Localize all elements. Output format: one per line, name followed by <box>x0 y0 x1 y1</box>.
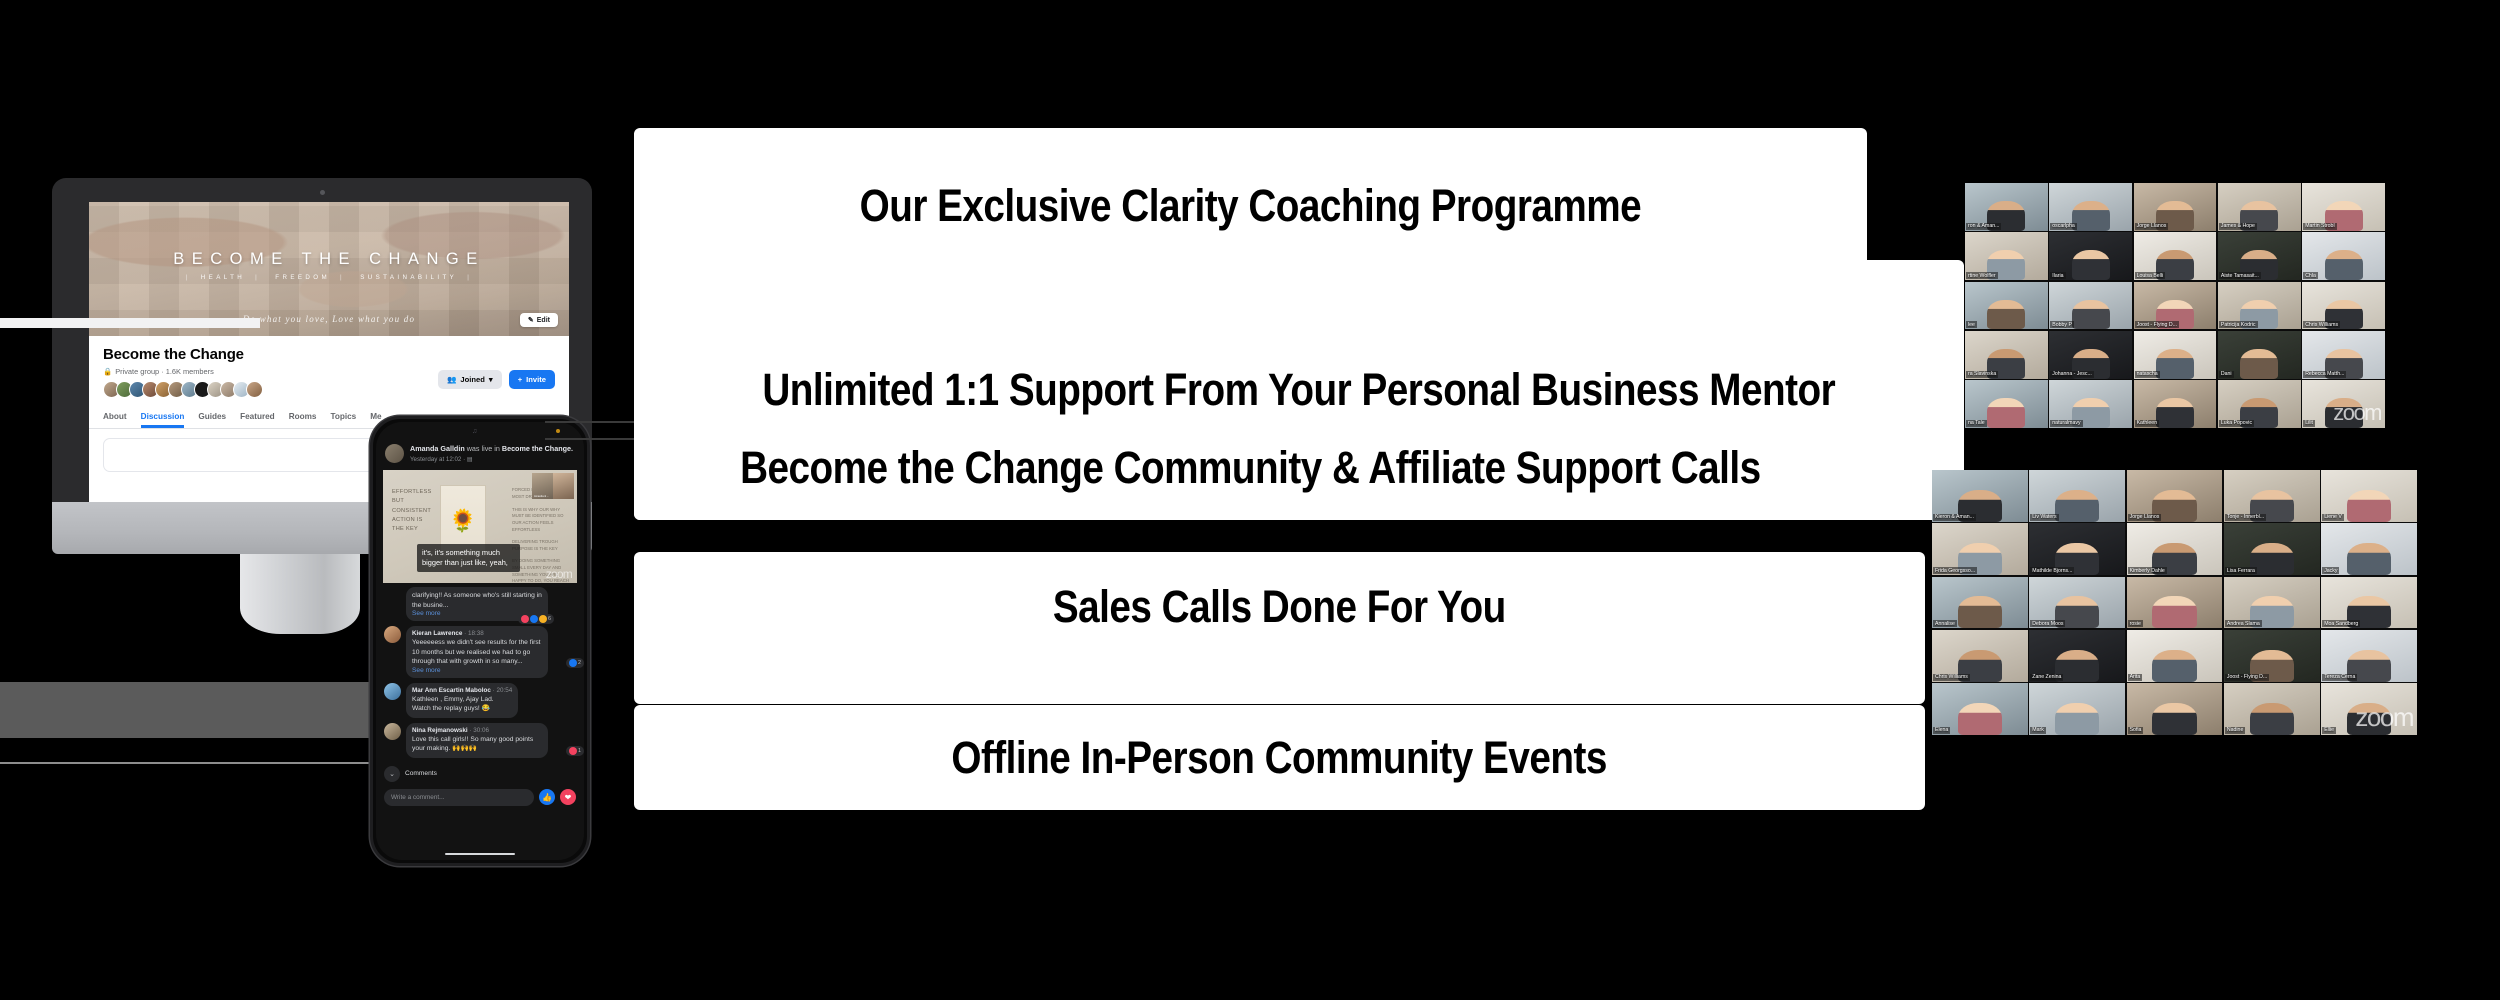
zoom-participant-tile[interactable]: Debora Moos <box>2029 577 2125 629</box>
avatar <box>384 723 401 740</box>
like-reaction-button[interactable]: 👍 <box>539 789 555 805</box>
lock-icon: 🔒 <box>103 367 112 376</box>
feature-panel-label: Offline In-Person Community Events <box>952 732 1607 784</box>
comment-bubble: Kieran Lawrence · 18:38 Yeeeeeess we did… <box>406 626 548 678</box>
participant-name-label: Luka Popovic <box>2219 420 2254 427</box>
participant-silhouette <box>2156 398 2194 428</box>
zoom-participant-tile[interactable]: Ilaria <box>2049 232 2132 280</box>
zoom-participant-tile[interactable]: Johanna - Jesc... <box>2049 331 2132 379</box>
zoom-participant-tile[interactable]: Andrea Slama <box>2224 577 2320 629</box>
joined-label: Joined <box>460 375 484 384</box>
comment-time: · 30:06 <box>469 727 489 734</box>
reaction-count: 2 <box>578 660 581 666</box>
zoom-participant-tile[interactable]: Lisa Ferrara <box>2224 523 2320 575</box>
chevron-down-icon: ⌄ <box>384 766 400 782</box>
group-name: Become the Change <box>103 346 555 363</box>
participant-name-label: Kimberly Dahle <box>2128 567 2167 574</box>
comment-bubble: clarifying!! As someone who's still star… <box>406 587 548 621</box>
comments-toggle-row[interactable]: ⌄ Comments <box>376 763 584 785</box>
zoom-participant-tile[interactable]: ra Slavinska <box>1965 331 2048 379</box>
zoom-participant-tile[interactable]: Nadine <box>2224 683 2320 735</box>
post-action: was live in <box>465 444 502 453</box>
feature-panel-offline-events[interactable]: Offline In-Person Community Events <box>634 705 1925 810</box>
tab-about[interactable]: About <box>103 412 127 428</box>
iphone-mockup: ♫ Amanda Galldin was live in Become the … <box>370 416 590 866</box>
live-caption: it's, it's something much bigger than ju… <box>417 544 520 572</box>
zoom-participant-tile[interactable]: James & Hope <box>2218 183 2301 231</box>
participant-silhouette <box>2072 300 2110 330</box>
zoom-participant-tile[interactable]: Elena <box>1932 683 2028 735</box>
reaction-pill[interactable]: 6 <box>518 614 554 624</box>
participant-name-label: Tereza Cerna <box>2322 674 2357 681</box>
participant-name-label: na Tale <box>1966 420 1987 427</box>
group-cover-photo: BECOME THE CHANGE |HEALTH| FREEDOM| SUST… <box>89 202 569 336</box>
participant-name-label: Lisa Ferrara <box>2225 567 2257 574</box>
participant-name-label: Zane Zenina <box>2030 674 2063 681</box>
zoom-participant-tile[interactable]: Bobby P <box>2049 282 2132 330</box>
participant-name-label: Bobby P <box>2050 321 2074 328</box>
love-reaction-icon <box>521 615 529 623</box>
zoom-participant-tile[interactable]: Chla <box>2302 232 2385 280</box>
reaction-pill[interactable]: 2 <box>566 658 584 668</box>
participant-name-label: Arita <box>2128 674 2143 681</box>
avatar <box>384 626 401 643</box>
participant-name-label: Jacky <box>2322 567 2339 574</box>
reaction-count: 6 <box>548 616 551 622</box>
zoom-participant-tile[interactable]: Jorge Llanos <box>2127 470 2223 522</box>
zoom-participant-tile[interactable]: Chris Williams <box>2302 282 2385 330</box>
slide-left-text: EFFORTLESS BUT CONSISTENT ACTION IS THE … <box>392 488 434 534</box>
participant-name-label: Mark <box>2030 727 2046 734</box>
tab-featured[interactable]: Featured <box>240 412 275 428</box>
zoom-participant-tile[interactable]: rosie <box>2127 577 2223 629</box>
participant-name-label: Patricija Kodric <box>2219 321 2258 328</box>
heart-icon: ❤ <box>565 793 572 802</box>
feature-panel-community-calls[interactable]: Become the Change Community & Affiliate … <box>634 415 1867 520</box>
audience-icon: ▤ <box>467 456 473 463</box>
comment-author-name: Nina Rejmanowski <box>412 727 468 734</box>
zoom-participant-tile[interactable]: Sofia <box>2127 683 2223 735</box>
thin-divider-line <box>0 762 392 764</box>
participant-name-label: James & Hope <box>2219 223 2257 230</box>
zoom-participant-tile[interactable]: ron & Aman... <box>1965 183 2048 231</box>
zoom-watermark: zoom <box>2355 702 2413 733</box>
post-author[interactable]: Amanda Galldin <box>410 444 465 453</box>
pencil-icon: ✎ <box>528 316 534 324</box>
see-more-link[interactable]: See more <box>412 667 542 674</box>
iphone-display: ♫ Amanda Galldin was live in Become the … <box>376 422 584 860</box>
live-video-player[interactable]: EFFORTLESS BUT CONSISTENT ACTION IS THE … <box>383 470 577 583</box>
participant-name-label: Liene V <box>2322 514 2344 521</box>
participant-silhouette <box>1958 596 2002 628</box>
participant-name-label: Ilaria <box>2050 272 2065 279</box>
participant-silhouette <box>1958 703 2002 735</box>
participant-silhouette <box>2055 490 2099 522</box>
zoom-participant-tile[interactable]: Mathilde Bjorns... <box>2029 523 2125 575</box>
invite-button[interactable]: + Invite <box>509 370 555 389</box>
list-item: Kieran Lawrence · 18:38 Yeeeeeess we did… <box>384 626 576 678</box>
participant-silhouette <box>2072 201 2110 231</box>
post-header: Amanda Galldin was live in Become the Ch… <box>376 440 584 463</box>
members-icon: 👥 <box>447 375 456 384</box>
zoom-call-grid-top: ron & Aman...oscarlphaJorge LlanosJames … <box>1965 183 2385 428</box>
participant-name-label: Mathilde Bjorns... <box>2030 567 2074 574</box>
feature-panel-label: Sales Calls Done For You <box>1053 581 1506 633</box>
tab-topics[interactable]: Topics <box>330 412 356 428</box>
participant-name-label: Debora Moos <box>2030 620 2065 627</box>
participant-name-label: Chla <box>2303 272 2318 279</box>
participant-name-label: Kathleen <box>2135 420 2159 427</box>
comment-bubble: Mar Ann Escartin Maboloc · 20:54 Kathlee… <box>406 683 518 718</box>
thumbs-up-icon: 👍 <box>542 793 552 802</box>
comment-author-name: Kieran Lawrence <box>412 630 462 637</box>
participant-silhouette <box>2325 250 2363 280</box>
participant-name-label: Joost - Flying D... <box>2135 321 2179 328</box>
imac-stand <box>240 554 360 634</box>
zoom-participant-tile[interactable]: Frida Georgsso... <box>1932 523 2028 575</box>
participant-name-label: Chris Williams <box>1933 674 1970 681</box>
zoom-participant-tile[interactable]: Mark <box>2029 683 2125 735</box>
group-action-buttons: 👥 Joined ▾ + Invite <box>438 370 555 389</box>
cover-pillar-health: HEALTH <box>201 274 245 281</box>
participant-silhouette <box>2250 703 2294 735</box>
participant-name-label: Jorge Llanos <box>2135 223 2169 230</box>
connector-line <box>545 421 641 423</box>
participant-silhouette <box>2347 490 2391 522</box>
zoom-participant-tile[interactable]: Tereza Cerna <box>2321 630 2417 682</box>
cover-title: BECOME THE CHANGE <box>89 250 569 269</box>
zoom-participant-tile[interactable]: Liv Waters <box>2029 470 2125 522</box>
participant-name-label: Annalise <box>1933 620 1957 627</box>
zoom-participant-tile[interactable]: lee <box>1965 282 2048 330</box>
participant-name-label: Dani <box>2219 371 2234 378</box>
cover-pillars: |HEALTH| FREEDOM| SUSTAINABILITY| <box>89 274 569 281</box>
participant-name-label: Lilit <box>2303 420 2315 427</box>
zoom-participant-tile[interactable]: oscarlpha <box>2049 183 2132 231</box>
list-item: Nina Rejmanowski · 30:06 Love this call … <box>384 723 576 758</box>
zoom-participant-tile[interactable]: Rebecca Matth... <box>2302 331 2385 379</box>
reaction-count: 1 <box>578 748 581 754</box>
comment-bubble: Nina Rejmanowski · 30:06 Love this call … <box>406 723 548 758</box>
participant-silhouette <box>2347 543 2391 575</box>
participant-name-label: Aiste Tamasait... <box>2219 272 2261 279</box>
comments-list: clarifying!! As someone who's still star… <box>376 583 584 758</box>
participant-name-label: Rebecca Matth... <box>2303 371 2346 378</box>
participant-name-label: Martin Strobl <box>2303 223 2336 230</box>
tab-guides[interactable]: Guides <box>198 412 226 428</box>
zoom-call-grid-bottom: Kieron & Aman...Liv WatersJorge LlanosTo… <box>1932 470 2417 735</box>
chevron-down-icon: ▾ <box>489 375 493 384</box>
participant-silhouette <box>1987 300 2025 330</box>
music-icon: ♫ <box>472 428 477 435</box>
participant-silhouette <box>2152 703 2196 735</box>
zoom-participant-tile[interactable]: rtine Wolfler <box>1965 232 2048 280</box>
participant-name-label: oscarlpha <box>2050 223 2077 230</box>
speaker-pip: Amanda & ... <box>532 473 574 499</box>
participant-silhouette <box>2152 596 2196 628</box>
participant-silhouette <box>2240 349 2278 379</box>
zoom-participant-tile[interactable]: naturalmavy <box>2049 380 2132 428</box>
participant-name-label: ron & Aman... <box>1966 223 2001 230</box>
list-item: clarifying!! As someone who's still star… <box>384 587 576 621</box>
zoom-participant-tile[interactable]: Zane Zenina <box>2029 630 2125 682</box>
participant-name-label: Chris Williams <box>2303 321 2340 328</box>
participant-name-label: Louisa Belli <box>2135 272 2166 279</box>
zoom-participant-tile[interactable]: Chris Williams <box>1932 630 2028 682</box>
zoom-watermark: zoom <box>546 567 572 581</box>
love-reaction-button[interactable]: ❤ <box>560 789 576 805</box>
zoom-participant-tile[interactable]: Liene V <box>2321 470 2417 522</box>
post-byline: Amanda Galldin was live in Become the Ch… <box>410 444 573 454</box>
cover-pillar-sustainability: SUSTAINABILITY <box>360 274 457 281</box>
zoom-participant-tile[interactable]: Patricija Kodric <box>2218 282 2301 330</box>
webcam-icon <box>320 190 325 195</box>
reaction-pill[interactable]: 1 <box>566 746 584 756</box>
comments-toggle-label: Comments <box>405 770 437 777</box>
participant-name-label: rosie <box>2128 620 2143 627</box>
home-indicator <box>445 853 515 856</box>
edit-cover-label: Edit <box>537 317 550 324</box>
comment-body: Yeeeeeess we didn't see results for the … <box>412 638 542 667</box>
like-reaction-icon <box>530 615 538 623</box>
edit-cover-button[interactable]: ✎ Edit <box>520 313 558 327</box>
participant-name-label: Liv Waters <box>2030 514 2058 521</box>
comment-author[interactable]: Kieran Lawrence · 18:38 <box>412 630 542 637</box>
plus-icon: + <box>518 375 522 384</box>
zoom-participant-tile[interactable]: Louisa Belli <box>2134 232 2217 280</box>
love-reaction-icon <box>569 747 577 755</box>
comment-author-name: Mar Ann Escartin Maboloc <box>412 687 491 694</box>
participant-silhouette <box>2072 250 2110 280</box>
zoom-participant-tile[interactable]: Moa Sandberg <box>2321 577 2417 629</box>
participant-name-label: Moa Sandberg <box>2322 620 2360 627</box>
group-meta-label: Private group · 1.6K members <box>115 367 214 376</box>
participant-name-label: lee <box>1966 321 1977 328</box>
tab-rooms[interactable]: Rooms <box>289 412 317 428</box>
zoom-participant-tile[interactable]: Kieron & Aman... <box>1932 470 2028 522</box>
connector-line <box>545 438 641 440</box>
grey-band <box>0 682 392 738</box>
participant-name-label: Nadine <box>2225 727 2245 734</box>
participant-name-label: Tonje - Innerbl... <box>2225 514 2266 521</box>
participant-name-label: rtine Wolfler <box>1966 272 1998 279</box>
comment-input-row: Write a comment... 👍 ❤ <box>376 785 584 806</box>
comment-input[interactable]: Write a comment... <box>384 789 534 806</box>
avatar <box>246 381 263 398</box>
zoom-watermark: zoom <box>2333 400 2381 426</box>
avatar <box>385 444 404 463</box>
comment-time: · 20:54 <box>493 687 513 694</box>
zoom-participant-tile[interactable]: Dani <box>2218 331 2301 379</box>
zoom-participant-tile[interactable]: na Tale <box>1965 380 2048 428</box>
slide-para-2: THIS IS WHY OUR WHY MUST BE IDENTIFIED S… <box>512 507 570 534</box>
feature-panel-label: Our Exclusive Clarity Coaching Programme <box>860 180 1642 232</box>
feature-panel-sales-calls[interactable]: Sales Calls Done For You <box>634 552 1925 704</box>
participant-name-label: ra Slavinska <box>1966 371 1998 378</box>
list-item: Mar Ann Escartin Maboloc · 20:54 Kathlee… <box>384 683 576 718</box>
zoom-participant-tile[interactable]: Luka Popovic <box>2218 380 2301 428</box>
imac-foot-bar <box>0 318 260 328</box>
recording-indicator-icon <box>556 429 560 433</box>
feature-panel-label: Unlimited 1:1 Support From Your Personal… <box>763 364 1836 416</box>
haha-reaction-icon <box>539 615 547 623</box>
comment-body: Kathleen , Emmy, Ajay Lad. Watch the rep… <box>412 695 512 714</box>
participant-name-label: Johanna - Jesc... <box>2050 371 2094 378</box>
participant-name-label: Joost - Flying D... <box>2225 674 2269 681</box>
post-group[interactable]: Become the Change. <box>502 444 573 453</box>
participant-name-label: naturalmavy <box>2050 420 2082 427</box>
feature-panel-label: Become the Change Community & Affiliate … <box>740 442 1761 494</box>
participant-name-label: Jorge Llanos <box>2128 514 2162 521</box>
participant-silhouette <box>1987 398 2025 428</box>
participant-name-label: Elena <box>1933 727 1950 734</box>
zoom-participant-tile[interactable]: Tonje - Innerbl... <box>2224 470 2320 522</box>
zoom-participant-tile[interactable]: Joost - Flying D... <box>2224 630 2320 682</box>
tab-discussion[interactable]: Discussion <box>141 412 185 428</box>
pip-name-label: Amanda & ... <box>534 495 549 498</box>
avatar <box>384 683 401 700</box>
participant-silhouette <box>2152 650 2196 682</box>
zoom-participant-tile[interactable]: Aiste Tamasait... <box>2218 232 2301 280</box>
post-timestamp: Yesterday at 12:02 · ▤ <box>410 456 573 463</box>
participant-name-label: Ellie <box>2322 727 2336 734</box>
comment-body: Love this call girls!! So many good poin… <box>412 735 542 754</box>
zoom-participant-tile[interactable]: natascha <box>2134 331 2217 379</box>
participant-name-label: Frida Georgsso... <box>1933 567 1977 574</box>
post-time-label: Yesterday at 12:02 · <box>410 456 465 463</box>
zoom-participant-tile[interactable]: Jorge Llanos <box>2134 183 2217 231</box>
participant-name-label: Kieron & Aman... <box>1933 514 1976 521</box>
zoom-participant-tile[interactable]: Kimberly Dahle <box>2127 523 2223 575</box>
participant-silhouette <box>2156 349 2194 379</box>
comment-author[interactable]: Mar Ann Escartin Maboloc · 20:54 <box>412 687 512 694</box>
zoom-participant-tile[interactable]: Martin Strobl <box>2302 183 2385 231</box>
invite-label: Invite <box>526 375 546 384</box>
zoom-participant-tile[interactable]: Jacky <box>2321 523 2417 575</box>
iphone-frame: ♫ Amanda Galldin was live in Become the … <box>370 416 590 866</box>
slide-para-3: DELIVERING TROUGH PURPOSE IS THE KEY <box>512 539 570 552</box>
zoom-participant-tile[interactable]: Joost - Flying D... <box>2134 282 2217 330</box>
comment-time: · 18:38 <box>464 630 484 637</box>
participant-name-label: Andrea Slama <box>2225 620 2262 627</box>
slide-canvas: BECOME THE CHANGE |HEALTH| FREEDOM| SUST… <box>0 0 2500 1000</box>
zoom-participant-tile[interactable]: Arita <box>2127 630 2223 682</box>
joined-button[interactable]: 👥 Joined ▾ <box>438 370 502 389</box>
comment-author[interactable]: Nina Rejmanowski · 30:06 <box>412 727 542 734</box>
like-reaction-icon <box>569 659 577 667</box>
participant-silhouette <box>2055 703 2099 735</box>
zoom-participant-tile[interactable]: Annalise <box>1932 577 2028 629</box>
participant-name-label: Sofia <box>2128 727 2144 734</box>
zoom-participant-tile[interactable]: Kathleen <box>2134 380 2217 428</box>
participant-name-label: natascha <box>2135 371 2160 378</box>
cover-pillar-freedom: FREEDOM <box>275 274 330 281</box>
comment-body: clarifying!! As someone who's still star… <box>412 591 542 610</box>
